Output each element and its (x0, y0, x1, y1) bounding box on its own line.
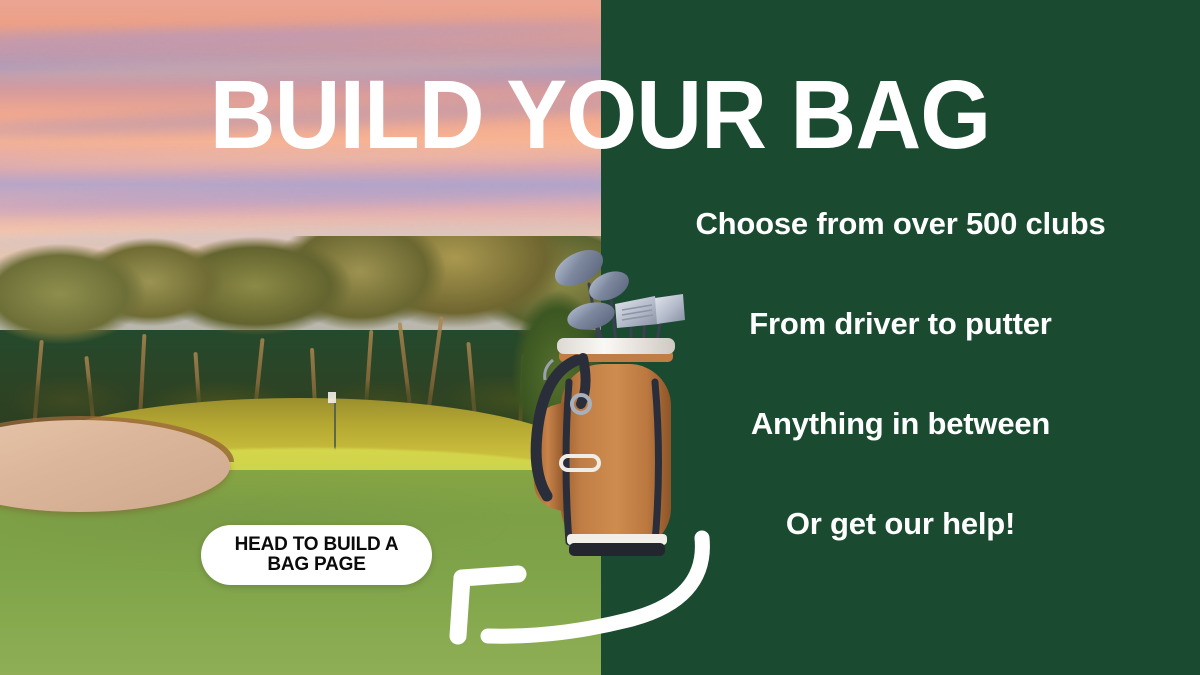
bag-seam (566, 382, 569, 542)
cta-label-line2: BAG PAGE (267, 554, 365, 575)
benefit-item-1: Choose from over 500 clubs (601, 206, 1200, 242)
cta-label: HEAD TO BUILD A BAG PAGE (235, 535, 399, 576)
page-title: BUILD YOUR BAG (36, 66, 1164, 163)
cloud-streak (0, 173, 601, 220)
benefit-item-2: From driver to putter (601, 306, 1200, 342)
cloud-streak (0, 16, 601, 52)
benefit-item-3: Anything in between (601, 406, 1200, 442)
curved-arrow-icon (440, 530, 710, 660)
head-to-build-a-bag-button[interactable]: HEAD TO BUILD A BAG PAGE (201, 525, 432, 585)
benefit-list: Choose from over 500 clubs From driver t… (601, 206, 1200, 542)
build-your-bag-banner: BUILD YOUR BAG Choose from over 500 club… (0, 0, 1200, 675)
cta-label-line1: HEAD TO BUILD A (235, 534, 399, 555)
flag (328, 392, 336, 403)
